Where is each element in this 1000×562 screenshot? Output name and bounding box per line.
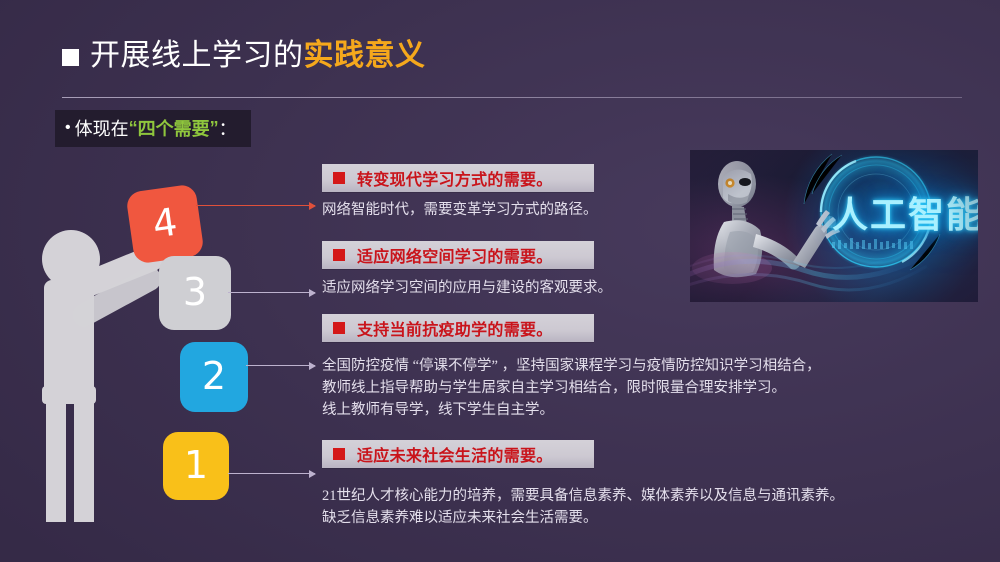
subtitle-quote-open: “ — [129, 118, 138, 139]
red-square-icon — [333, 249, 345, 261]
body-text-one: 网络智能时代，需要变革学习方式的路径。 — [322, 199, 598, 221]
headline-three-text: 支持当前抗疫助学的需要。 — [357, 316, 553, 340]
block-four: 4 — [125, 183, 204, 264]
arrow-line — [196, 205, 315, 206]
body-text-three: 全国防控疫情 “停课不停学” ，坚持国家课程学习与疫情防控知识学习相结合， 教师… — [322, 355, 821, 421]
bullet-dot-icon: • — [65, 119, 71, 137]
body-line: 全国防控疫情 “停课不停学” ，坚持国家课程学习与疫情防控知识学习相结合， — [322, 355, 821, 377]
block-two-number: 2 — [202, 354, 226, 398]
arrow-head-icon — [309, 470, 316, 478]
red-square-icon — [333, 448, 345, 460]
block-one: 1 — [163, 432, 229, 500]
red-square-icon — [333, 172, 345, 184]
block-two: 2 — [180, 342, 248, 412]
arrow-line — [228, 473, 315, 474]
arrow-head-icon — [309, 289, 316, 297]
body-line: 缺乏信息素养难以适应未来社会生活需要。 — [322, 507, 844, 529]
headline-two-text: 适应网络空间学习的需要。 — [357, 243, 553, 267]
subtitle-prefix: 体现在 — [75, 115, 129, 141]
headline-bar-one: 转变现代学习方式的需要。 — [322, 164, 594, 192]
headline-bar-three: 支持当前抗疫助学的需要。 — [322, 314, 594, 342]
headline-bar-four: 适应未来社会生活的需要。 — [322, 440, 594, 468]
headline-one-text: 转变现代学习方式的需要。 — [357, 166, 553, 190]
block-three: 3 — [159, 256, 231, 330]
connector-arrow-three — [228, 292, 315, 293]
subtitle-quote-close: ” — [210, 118, 219, 139]
red-square-icon — [333, 322, 345, 334]
body-line: 适应网络学习空间的应用与建设的客观要求。 — [322, 277, 612, 299]
connector-arrow-four — [196, 205, 315, 206]
page-title: 开展线上学习的实践意义 — [62, 40, 426, 72]
arrow-head-icon — [309, 202, 316, 210]
block-three-number: 3 — [183, 270, 207, 314]
body-line: 网络智能时代，需要变革学习方式的路径。 — [322, 199, 598, 221]
block-four-number: 4 — [150, 200, 180, 247]
body-text-four: 21世纪人才核心能力的培养，需要具备信息素养、媒体素养以及信息与通讯素养。 缺乏… — [322, 485, 844, 529]
body-line: 线上教师有导学，线下学生自主学。 — [322, 399, 821, 421]
body-line: 教师线上指导帮助与学生居家自主学习相结合，限时限量合理安排学习。 — [322, 377, 821, 399]
ai-robot-image: 人工智能 — [690, 150, 978, 302]
image-vignette — [690, 150, 978, 302]
headline-bar-two: 适应网络空间学习的需要。 — [322, 241, 594, 269]
body-line: 21世纪人才核心能力的培养，需要具备信息素养、媒体素养以及信息与通讯素养。 — [322, 485, 844, 507]
block-one-number: 1 — [184, 443, 208, 487]
connector-arrow-two — [246, 365, 315, 366]
page-title-accent: 实践意义 — [304, 39, 426, 72]
slide-canvas: 开展线上学习的实践意义 • 体现在 “ 四个需要 ” ： — [0, 0, 1000, 562]
subtitle-highlight: 四个需要 — [138, 115, 210, 141]
title-divider — [62, 97, 962, 98]
subtitle-suffix: ： — [219, 115, 237, 141]
arrow-line — [228, 292, 315, 293]
arrow-head-icon — [309, 362, 316, 370]
arrow-line — [246, 365, 315, 366]
connector-arrow-one — [228, 473, 315, 474]
subtitle-chip: • 体现在 “ 四个需要 ” ： — [55, 110, 251, 147]
body-text-two: 适应网络学习空间的应用与建设的客观要求。 — [322, 277, 612, 299]
square-bullet-icon — [62, 49, 79, 66]
headline-four-text: 适应未来社会生活的需要。 — [357, 442, 553, 466]
page-title-plain: 开展线上学习的 — [90, 39, 304, 72]
